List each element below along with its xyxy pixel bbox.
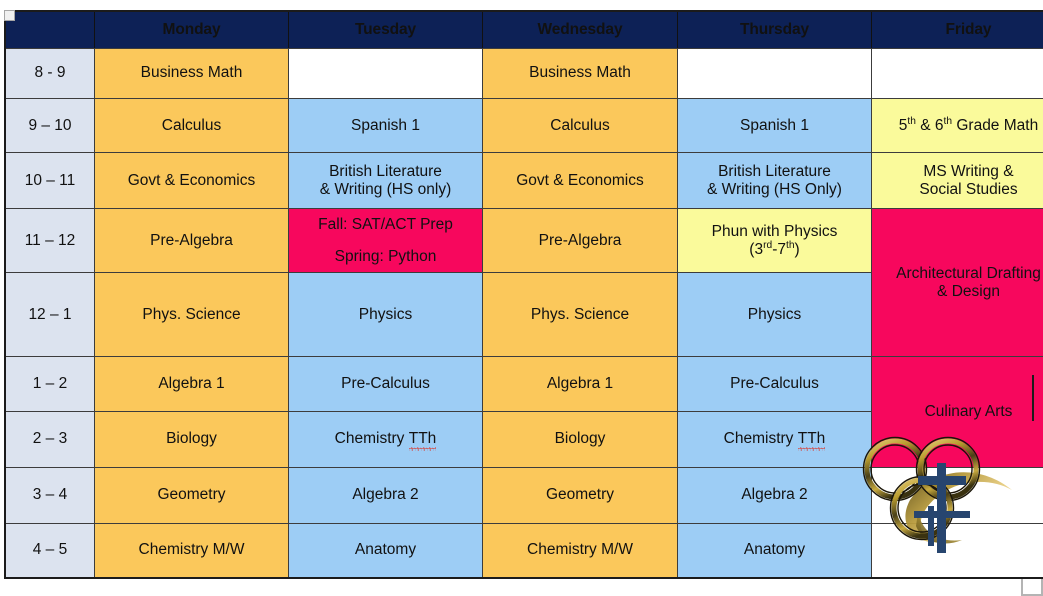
grade-math-suffix: Grade Math: [952, 117, 1038, 134]
cell-line-2: & Writing (HS only): [292, 181, 479, 199]
table-row: 1 – 2 Algebra 1 Pre-Calculus Algebra 1 P…: [5, 357, 1043, 412]
header-monday: Monday: [95, 11, 289, 49]
class-cell-fri-architectural-drafting[interactable]: Architectural Drafting & Design: [872, 209, 1043, 357]
class-cell-tue-9[interactable]: Spanish 1: [289, 98, 483, 153]
class-cell-mon-3[interactable]: Geometry: [95, 467, 289, 523]
class-cell-wed-4[interactable]: Chemistry M/W: [483, 523, 678, 578]
class-cell-wed-1[interactable]: Algebra 1: [483, 357, 678, 412]
class-cell-tue-10[interactable]: British Literature & Writing (HS only): [289, 153, 483, 209]
class-cell-thu-8[interactable]: [678, 49, 872, 99]
table-row: 9 – 10 Calculus Spanish 1 Calculus Spani…: [5, 98, 1043, 153]
class-cell-mon-9[interactable]: Calculus: [95, 98, 289, 153]
cell-line-2: Social Studies: [875, 181, 1043, 199]
cell-line-2: & Writing (HS Only): [681, 181, 868, 199]
header-row: Monday Tuesday Wednesday Thursday Friday: [5, 11, 1043, 49]
class-cell-tue-11[interactable]: Fall: SAT/ACT Prep Spring: Python: [289, 209, 483, 273]
line-spacer: [292, 234, 479, 248]
class-cell-tue-1[interactable]: Pre-Calculus: [289, 357, 483, 412]
grade-7-ordinal: th: [786, 240, 795, 251]
class-cell-thu-9[interactable]: Spanish 1: [678, 98, 872, 153]
table-row: 8 - 9 Business Math Business Math: [5, 49, 1043, 99]
cell-line-1: British Literature: [681, 163, 868, 181]
class-cell-mon-8[interactable]: Business Math: [95, 49, 289, 99]
class-cell-thu-3[interactable]: Algebra 2: [678, 467, 872, 523]
class-cell-mon-10[interactable]: Govt & Economics: [95, 153, 289, 209]
grade-range-dash: -7: [772, 241, 786, 258]
class-cell-thu-2[interactable]: Chemistry TTh: [678, 411, 872, 467]
class-cell-fri-8[interactable]: [872, 49, 1043, 99]
time-label-3-4: 3 – 4: [5, 467, 95, 523]
header-wednesday: Wednesday: [483, 11, 678, 49]
selection-handle-bottom-right[interactable]: [1021, 579, 1043, 596]
cell-line-2: (3rd-7th): [681, 241, 868, 259]
class-cell-mon-4[interactable]: Chemistry M/W: [95, 523, 289, 578]
class-cell-thu-11[interactable]: Phun with Physics (3rd-7th): [678, 209, 872, 273]
three-rings-cross-logo: [852, 428, 1027, 573]
class-cell-mon-12[interactable]: Phys. Science: [95, 273, 289, 357]
table-edge-marker: [1032, 375, 1034, 421]
table-row: 11 – 12 Pre-Algebra Fall: SAT/ACT Prep S…: [5, 209, 1043, 273]
class-cell-wed-10[interactable]: Govt & Economics: [483, 153, 678, 209]
grade-5-ordinal: th: [907, 115, 916, 126]
grade-and-text: & 6: [916, 117, 944, 134]
class-cell-wed-12[interactable]: Phys. Science: [483, 273, 678, 357]
cell-line-1: Fall: SAT/ACT Prep: [292, 216, 479, 234]
grade-range-close: ): [795, 241, 800, 258]
cell-line-1: Culinary Arts: [925, 403, 1013, 420]
time-label-11-12: 11 – 12: [5, 209, 95, 273]
time-label-9-10: 9 – 10: [5, 98, 95, 153]
cell-line-1: MS Writing &: [875, 163, 1043, 181]
class-cell-thu-1[interactable]: Pre-Calculus: [678, 357, 872, 412]
grade-range-open: (3: [749, 241, 763, 258]
header-tuesday: Tuesday: [289, 11, 483, 49]
spellcheck-misspelled-word: TTh: [798, 430, 826, 449]
cell-line-2: & Design: [875, 283, 1043, 301]
header-corner-cell: [5, 11, 95, 49]
cell-line-1: Phun with Physics: [681, 223, 868, 241]
class-cell-wed-9[interactable]: Calculus: [483, 98, 678, 153]
class-cell-fri-9[interactable]: 5th & 6th Grade Math: [872, 98, 1043, 153]
class-cell-wed-11[interactable]: Pre-Algebra: [483, 209, 678, 273]
class-cell-tue-2[interactable]: Chemistry TTh: [289, 411, 483, 467]
class-cell-tue-12[interactable]: Physics: [289, 273, 483, 357]
table-header: Monday Tuesday Wednesday Thursday Friday: [5, 11, 1043, 49]
class-cell-wed-2[interactable]: Biology: [483, 411, 678, 467]
class-cell-thu-4[interactable]: Anatomy: [678, 523, 872, 578]
class-cell-thu-12[interactable]: Physics: [678, 273, 872, 357]
class-cell-mon-11[interactable]: Pre-Algebra: [95, 209, 289, 273]
class-cell-thu-10[interactable]: British Literature & Writing (HS Only): [678, 153, 872, 209]
table-row: 10 – 11 Govt & Economics British Literat…: [5, 153, 1043, 209]
header-friday: Friday: [872, 11, 1043, 49]
class-cell-fri-10[interactable]: MS Writing & Social Studies: [872, 153, 1043, 209]
class-cell-mon-2[interactable]: Biology: [95, 411, 289, 467]
cell-line-1: British Literature: [292, 163, 479, 181]
class-cell-mon-1[interactable]: Algebra 1: [95, 357, 289, 412]
chemistry-label: Chemistry: [724, 430, 798, 447]
time-label-1-2: 1 – 2: [5, 357, 95, 412]
time-label-12-1: 12 – 1: [5, 273, 95, 357]
time-label-2-3: 2 – 3: [5, 411, 95, 467]
class-cell-tue-4[interactable]: Anatomy: [289, 523, 483, 578]
time-label-4-5: 4 – 5: [5, 523, 95, 578]
class-cell-tue-3[interactable]: Algebra 2: [289, 467, 483, 523]
chemistry-label: Chemistry: [335, 430, 409, 447]
time-label-10-11: 10 – 11: [5, 153, 95, 209]
header-thursday: Thursday: [678, 11, 872, 49]
cell-line-1: Architectural Drafting: [875, 265, 1043, 283]
grade-math-label: 5th & 6th Grade Math: [899, 117, 1038, 134]
class-cell-wed-8[interactable]: Business Math: [483, 49, 678, 99]
grade-3-ordinal: rd: [763, 240, 772, 251]
spellcheck-misspelled-word: TTh: [409, 430, 437, 449]
selection-handle-top-left[interactable]: [4, 10, 15, 21]
time-label-8-9: 8 - 9: [5, 49, 95, 99]
class-cell-tue-8[interactable]: [289, 49, 483, 99]
class-cell-wed-3[interactable]: Geometry: [483, 467, 678, 523]
cell-line-2: Spring: Python: [292, 248, 479, 266]
grade-6-ordinal: th: [944, 115, 953, 126]
